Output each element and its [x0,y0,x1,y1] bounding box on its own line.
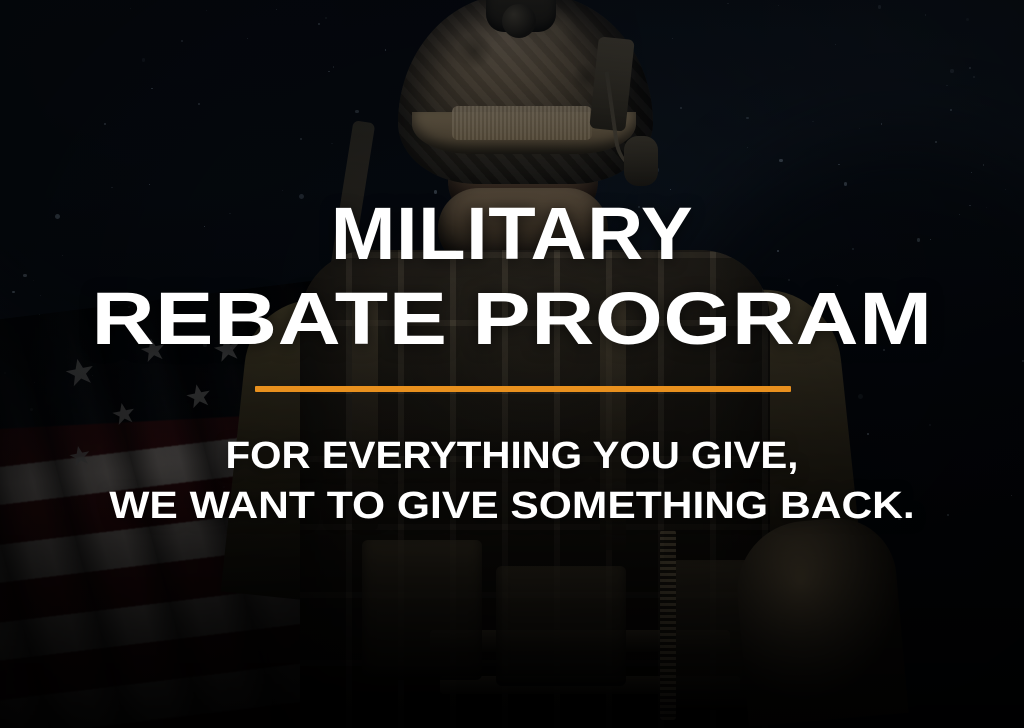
headline-line-1: MILITARY [0,198,1024,269]
subtitle-line-1: FOR EVERYTHING YOU GIVE, [0,437,1024,475]
subtitle-line-2: WE WANT TO GIVE SOMETHING BACK. [0,487,1024,525]
military-rebate-banner: MILITARY REBATE PROGRAM FOR EVERYTHING Y… [0,0,1024,728]
banner-content: MILITARY REBATE PROGRAM FOR EVERYTHING Y… [0,0,1024,728]
headline-line-2: REBATE PROGRAM [0,283,1024,354]
orange-divider [255,386,791,392]
